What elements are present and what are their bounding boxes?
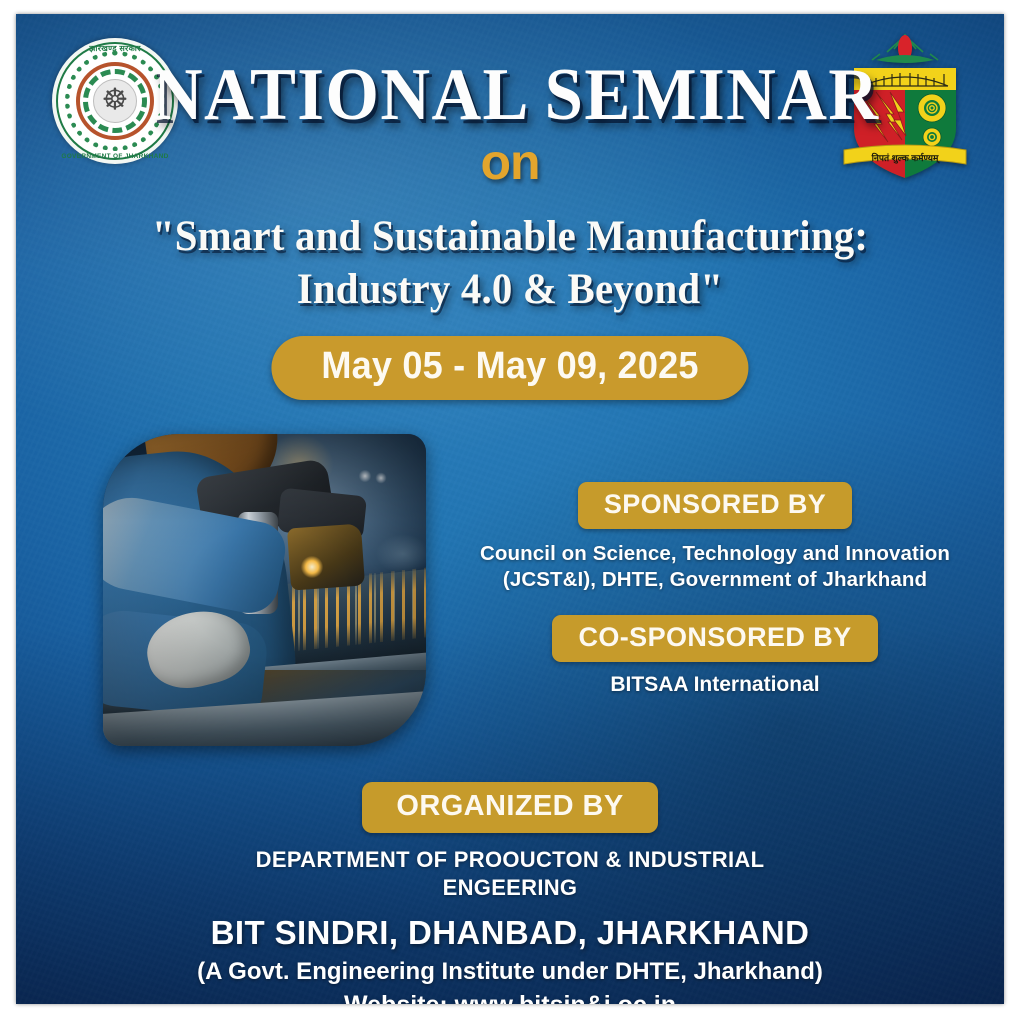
sponsors-column: SPONSORED BY Council on Science, Technol… — [456, 482, 974, 697]
seminar-photo — [103, 434, 426, 746]
organizing-department: DEPARTMENT OF PROOUCTON & INDUSTRIAL ENG… — [16, 846, 1004, 901]
co-sponsored-by-badge: CO-SPONSORED BY — [552, 615, 877, 662]
sponsor-name-line-2: (JCST&I), DHTE, Government of Jharkhand — [456, 567, 974, 593]
sponsor-name-line-1: Council on Science, Technology and Innov… — [480, 542, 950, 565]
department-line-1: DEPARTMENT OF PROOUCTON & INDUSTRIAL — [256, 847, 765, 872]
emblem-hindi-text: झारखण्ड सरकार — [52, 43, 178, 54]
institute-website[interactable]: Website: www.bitsin&i.oc.in — [16, 991, 1004, 1004]
cosponsor-name: BITSAA International — [456, 673, 974, 697]
seminar-date-label: May 05 - May 09, 2025 — [321, 345, 698, 388]
sponsored-by-badge: SPONSORED BY — [578, 482, 852, 529]
institute-name: BIT SINDRI, DHANBAD, JHARKHAND — [16, 914, 1004, 952]
cosponsor-badge-wrap: CO-SPONSORED BY — [456, 615, 974, 662]
title-on-word: on — [16, 133, 1004, 191]
seminar-theme: "Smart and Sustainable Manufacturing: In… — [41, 210, 980, 317]
sponsor-name: Council on Science, Technology and Innov… — [456, 541, 974, 593]
theme-line-2: Industry 4.0 & Beyond" — [41, 263, 980, 316]
page-title: NATIONAL SEMINAR — [51, 60, 970, 131]
department-line-2: ENGEERING — [16, 874, 1004, 902]
seminar-date-badge: May 05 - May 09, 2025 — [271, 336, 748, 400]
institute-subtitle: (A Govt. Engineering Institute under DHT… — [16, 958, 1004, 986]
poster-white-frame: ☸ झारखण्ड सरकार GOVERNMENT OF JHARKHAND — [0, 0, 1022, 1024]
theme-line-1: "Smart and Sustainable Manufacturing: — [152, 213, 868, 260]
organized-by-badge: ORGANIZED BY — [362, 782, 657, 833]
organized-by-block: ORGANIZED BY DEPARTMENT OF PROOUCTON & I… — [16, 782, 1004, 1004]
headline-block: NATIONAL SEMINAR on — [16, 60, 1004, 191]
seminar-poster: ☸ झारखण्ड सरकार GOVERNMENT OF JHARKHAND — [16, 14, 1004, 1004]
